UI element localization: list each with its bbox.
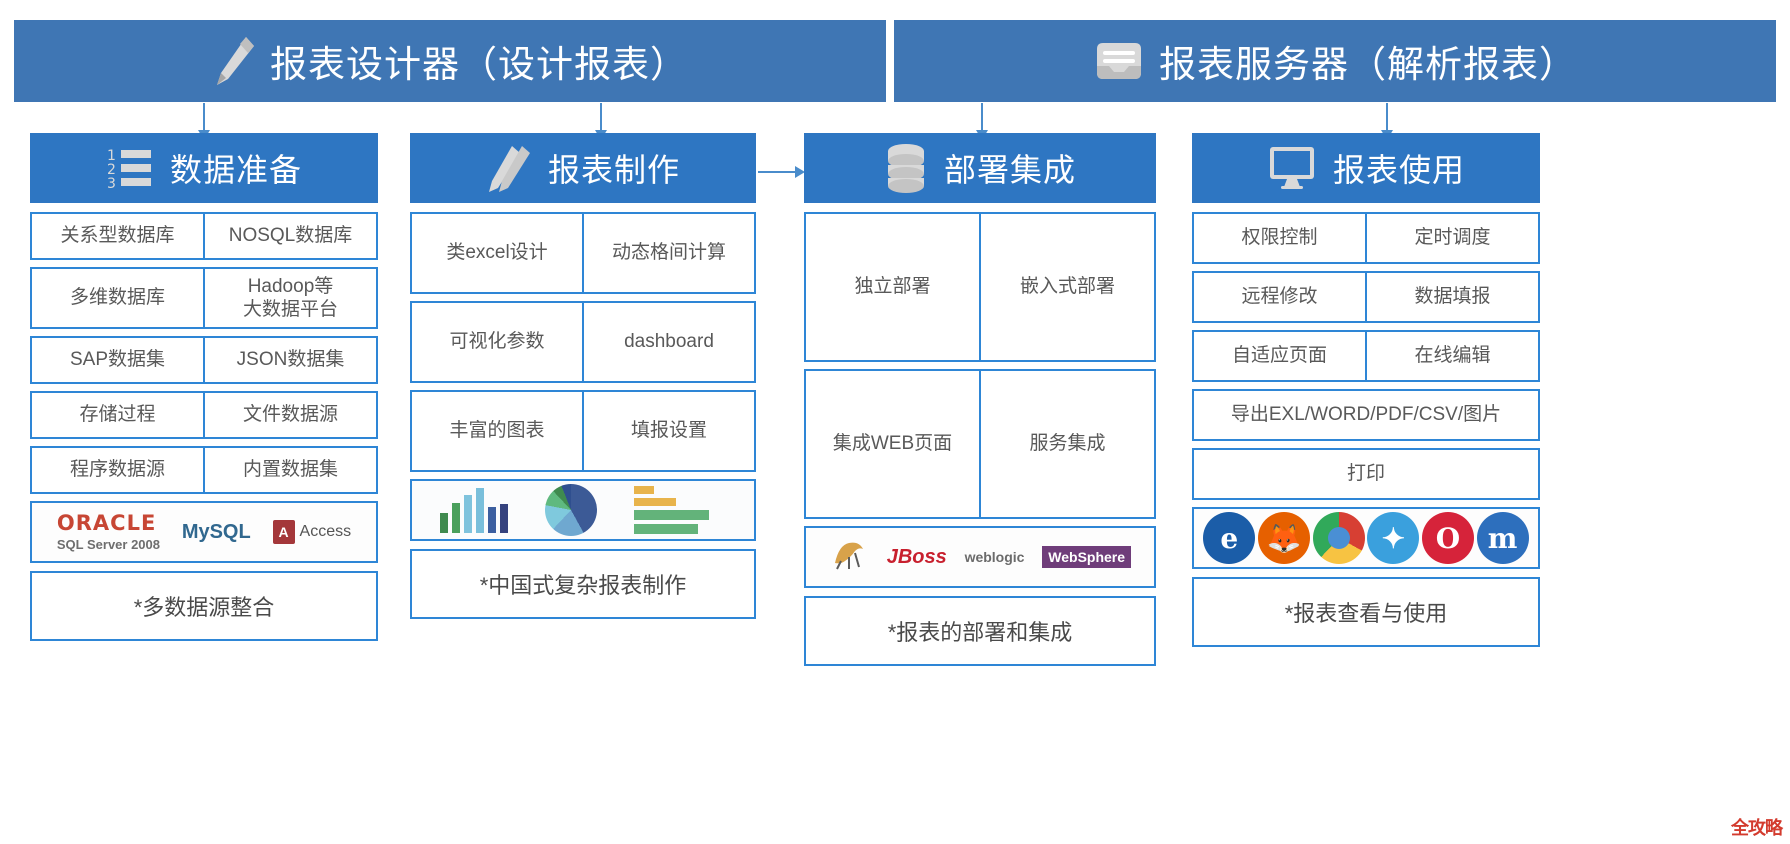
safari-icon: ✦ xyxy=(1367,512,1419,564)
cell-item[interactable]: 定时调度 xyxy=(1365,214,1538,262)
column-header-data-preparation: 1 2 3 数据准备 xyxy=(30,133,378,203)
banner-report-designer: 报表设计器（设计报表） xyxy=(14,20,886,102)
cell-item[interactable]: 数据填报 xyxy=(1365,273,1538,321)
table-row: 独立部署 嵌入式部署 xyxy=(804,212,1156,362)
cell-item[interactable]: NOSQL数据库 xyxy=(203,214,376,258)
table-row: 打印 xyxy=(1192,448,1540,500)
chrome-icon xyxy=(1313,512,1365,564)
weblogic-logo: weblogic xyxy=(965,549,1025,565)
column-title: 数据准备 xyxy=(170,145,302,191)
cell-item[interactable]: Hadoop等 大数据平台 xyxy=(203,269,376,327)
logo-strip-databases: ORACLE SQL Server 2008 MySQL A Access xyxy=(30,501,378,563)
inbox-icon xyxy=(1093,39,1145,83)
column-report-design: 报表制作 类excel设计 动态格间计算 可视化参数 dashboard 丰富的… xyxy=(410,133,756,619)
oracle-logo: ORACLE xyxy=(57,513,156,534)
column-header-report-design: 报表制作 xyxy=(410,133,756,203)
pen-icon xyxy=(486,144,532,192)
table-row: 存储过程 文件数据源 xyxy=(30,391,378,439)
cell-item[interactable]: 自适应页面 xyxy=(1194,332,1365,380)
arrow-server-to-usage xyxy=(1386,103,1388,131)
arrow-designer-to-design xyxy=(600,103,602,131)
table-row: 关系型数据库 NOSQL数据库 xyxy=(30,212,378,260)
caption-text: *多数据源整合 xyxy=(134,590,275,622)
cell-item[interactable]: 存储过程 xyxy=(32,393,203,437)
mysql-logo: MySQL xyxy=(182,521,251,544)
cell-item[interactable]: 在线编辑 xyxy=(1365,332,1538,380)
watermark: 全攻略 xyxy=(1731,814,1782,840)
logo-strip-charts xyxy=(410,479,756,541)
cell-grid: 类excel设计 动态格间计算 可视化参数 dashboard 丰富的图表 填报… xyxy=(410,212,756,472)
caption-report-design: *中国式复杂报表制作 xyxy=(410,549,756,619)
cell-item[interactable]: 填报设置 xyxy=(582,392,754,470)
cell-item[interactable]: 程序数据源 xyxy=(32,448,203,492)
pencil-icon xyxy=(212,35,256,87)
cell-item[interactable]: 打印 xyxy=(1194,450,1538,498)
table-row: 类excel设计 动态格间计算 xyxy=(410,212,756,294)
table-row: 多维数据库 Hadoop等 大数据平台 xyxy=(30,267,378,329)
column-title: 报表制作 xyxy=(548,145,680,191)
caption-data-preparation: *多数据源整合 xyxy=(30,571,378,641)
websphere-logo: WebSphere xyxy=(1042,546,1131,568)
jboss-logo: JBoss xyxy=(887,546,947,569)
cell-item[interactable]: 集成WEB页面 xyxy=(806,371,979,517)
cell-item[interactable]: 丰富的图表 xyxy=(412,392,582,470)
table-row: 自适应页面 在线编辑 xyxy=(1192,330,1540,382)
access-logo: Access xyxy=(300,523,352,541)
cell-item[interactable]: 可视化参数 xyxy=(412,303,582,381)
cell-item[interactable]: 多维数据库 xyxy=(32,269,203,327)
maxthon-icon: m xyxy=(1477,512,1529,564)
table-row: 程序数据源 内置数据集 xyxy=(30,446,378,494)
caption-report-usage: *报表查看与使用 xyxy=(1192,577,1540,647)
caption-text: *报表查看与使用 xyxy=(1285,596,1448,628)
cell-item[interactable]: dashboard xyxy=(582,303,754,381)
arrow-server-to-deploy xyxy=(981,103,983,131)
cell-item[interactable]: 独立部署 xyxy=(806,214,979,360)
cell-item[interactable]: 文件数据源 xyxy=(203,393,376,437)
table-row: 可视化参数 dashboard xyxy=(410,301,756,383)
tomcat-logo xyxy=(829,537,869,578)
table-row: 丰富的图表 填报设置 xyxy=(410,390,756,472)
cell-item[interactable]: 动态格间计算 xyxy=(582,214,754,292)
table-row: 权限控制 定时调度 xyxy=(1192,212,1540,264)
access-icon: A xyxy=(273,520,295,544)
cell-item[interactable]: 权限控制 xyxy=(1194,214,1365,262)
cell-item[interactable]: 嵌入式部署 xyxy=(979,214,1154,360)
banner-title: 报表设计器（设计报表） xyxy=(270,34,688,88)
internet-explorer-icon: e xyxy=(1203,512,1255,564)
opera-icon: O xyxy=(1422,512,1474,564)
sqlserver-logo: SQL Server 2008 xyxy=(57,537,160,552)
logo-strip-servers: JBoss weblogic WebSphere xyxy=(804,526,1156,588)
svg-text:3: 3 xyxy=(107,176,116,192)
cell-grid: 权限控制 定时调度 远程修改 数据填报 自适应页面 在线编辑 导出EXL/WOR… xyxy=(1192,212,1540,500)
table-row: SAP数据集 JSON数据集 xyxy=(30,336,378,384)
arrow-designer-to-data xyxy=(203,103,205,131)
hbar-chart-thumbnail xyxy=(634,486,726,534)
caption-deploy-integration: *报表的部署和集成 xyxy=(804,596,1156,666)
cell-item[interactable]: 类excel设计 xyxy=(412,214,582,292)
numbered-list-icon: 1 2 3 xyxy=(106,144,154,192)
cell-item[interactable]: 服务集成 xyxy=(979,371,1154,517)
cell-grid: 独立部署 嵌入式部署 集成WEB页面 服务集成 xyxy=(804,212,1156,519)
table-row: 集成WEB页面 服务集成 xyxy=(804,369,1156,519)
banner-report-server: 报表服务器（解析报表） xyxy=(894,20,1776,102)
database-icon xyxy=(884,143,928,193)
cell-item[interactable]: SAP数据集 xyxy=(32,338,203,382)
column-header-deploy-integration: 部署集成 xyxy=(804,133,1156,203)
cell-item[interactable]: 内置数据集 xyxy=(203,448,376,492)
cell-item[interactable]: 关系型数据库 xyxy=(32,214,203,258)
cell-item[interactable]: 导出EXL/WORD/PDF/CSV/图片 xyxy=(1194,391,1538,439)
cell-item[interactable]: JSON数据集 xyxy=(203,338,376,382)
logo-strip-browsers: e 🦊 ✦ O m xyxy=(1192,507,1540,569)
column-title: 报表使用 xyxy=(1333,145,1465,191)
caption-text: *报表的部署和集成 xyxy=(888,615,1073,647)
column-report-usage: 报表使用 权限控制 定时调度 远程修改 数据填报 自适应页面 在线编辑 导出EX… xyxy=(1192,133,1540,647)
monitor-icon xyxy=(1267,145,1317,191)
column-header-report-usage: 报表使用 xyxy=(1192,133,1540,203)
pie-chart-thumbnail xyxy=(545,484,597,536)
bar-chart-thumbnail xyxy=(440,487,508,533)
arrow-design-to-deploy xyxy=(758,171,796,173)
table-row: 导出EXL/WORD/PDF/CSV/图片 xyxy=(1192,389,1540,441)
diagram-canvas: 报表设计器（设计报表） 报表服务器（解析报表） 1 2 3 xyxy=(0,0,1790,844)
column-deploy-integration: 部署集成 独立部署 嵌入式部署 集成WEB页面 服务集成 JBoss weblo… xyxy=(804,133,1156,666)
banner-title: 报表服务器（解析报表） xyxy=(1159,34,1577,88)
cell-item[interactable]: 远程修改 xyxy=(1194,273,1365,321)
column-data-preparation: 1 2 3 数据准备 关系型数据库 NOSQL数据库 多维数据库 Hadoop等… xyxy=(30,133,378,641)
firefox-icon: 🦊 xyxy=(1258,512,1310,564)
table-row: 远程修改 数据填报 xyxy=(1192,271,1540,323)
caption-text: *中国式复杂报表制作 xyxy=(480,568,687,600)
column-title: 部署集成 xyxy=(944,145,1076,191)
cell-grid: 关系型数据库 NOSQL数据库 多维数据库 Hadoop等 大数据平台 SAP数… xyxy=(30,212,378,494)
